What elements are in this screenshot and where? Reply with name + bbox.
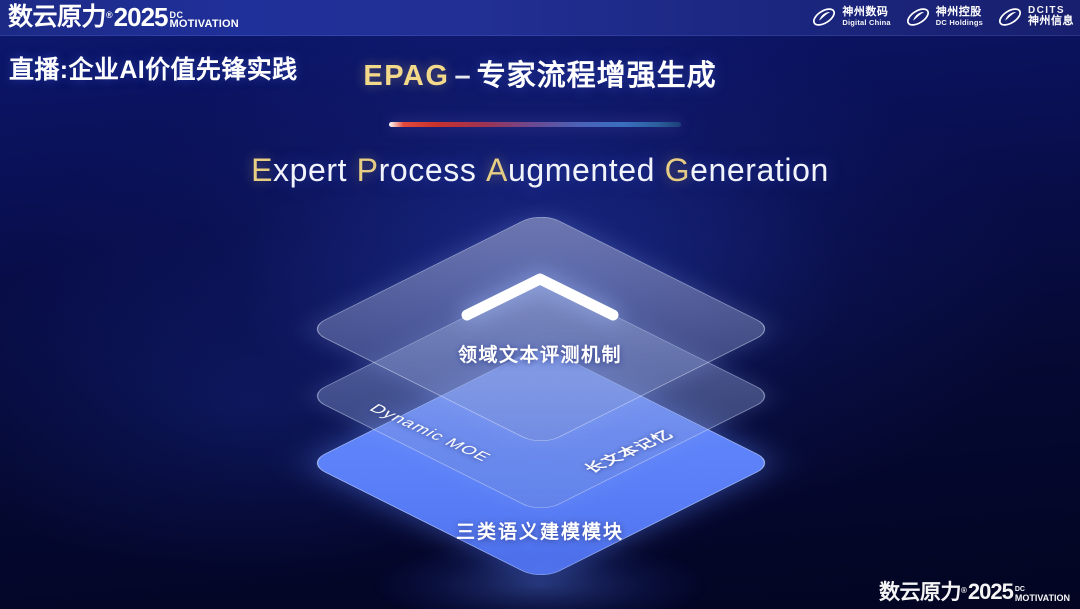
partner-name-en: Digital China [842, 19, 890, 27]
subtitle-cap-g: G [665, 152, 691, 188]
event-logo: 数云原力 ® 2025 DC MOTIVATION [8, 4, 239, 30]
event-logo-dc: DC MOTIVATION [1015, 587, 1070, 603]
event-logo-year: 2025 [114, 4, 168, 30]
presentation-slide: 数云原力 ® 2025 DC MOTIVATION 直播:企业AI价值先锋实践 … [0, 0, 1080, 609]
partner-logo-digital-china: 神州数码 Digital China [811, 4, 890, 30]
title-dash: – [449, 60, 476, 92]
registered-mark-icon: ® [961, 587, 967, 595]
title-chinese: 专家流程增强生成 [477, 60, 717, 92]
partner-text: 神州数码 Digital China [842, 7, 890, 26]
event-logo-cn: 数云原力 [8, 5, 106, 30]
partner-logo-dc-holdings: 神州控股 DC Holdings [905, 4, 983, 30]
partner-name-en: DC Holdings [936, 19, 983, 27]
registered-mark-icon: ® [106, 11, 113, 20]
subtitle-rest-expert: xpert [273, 152, 347, 188]
broadcast-title: 直播:企业AI价值先锋实践 [9, 50, 298, 86]
event-logo-dc-line2: MOTIVATION [170, 19, 239, 29]
partner-logo-group: 神州数码 Digital China 神州控股 DC Holdings DCIT… [811, 4, 1074, 30]
event-logo-dc-line2: MOTIVATION [1015, 594, 1070, 602]
event-logo-cn: 数云原力 [879, 582, 961, 603]
stack-layer-bottom-label: 三类语义建模模块 [270, 517, 810, 544]
spiral-logo-icon [905, 4, 931, 30]
partner-logo-dcits: DCITS 神州信息 [997, 4, 1074, 30]
subtitle-rest-augmented: ugmented [508, 152, 655, 188]
page-subtitle: Expert Process Augmented Generation [0, 152, 1080, 189]
event-logo-watermark: 数云原力 ® 2025 DC MOTIVATION [879, 581, 1070, 603]
chevron-up-icon [457, 269, 623, 325]
partner-text: DCITS 神州信息 [1028, 6, 1074, 28]
event-logo-year: 2025 [968, 581, 1013, 603]
spiral-logo-icon [997, 4, 1023, 30]
subtitle-cap-a: A [486, 152, 508, 188]
layer-stack-diagram: 领域文本评测机制 Dynamic MOE 长文本记忆 三类语义建模模块 [270, 225, 810, 555]
title-divider [389, 122, 681, 127]
subtitle-rest-process: rocess [379, 152, 477, 188]
stack-layer-top-label: 领域文本评测机制 [270, 340, 810, 367]
subtitle-cap-p: P [357, 152, 379, 188]
partner-name-en: DCITS [1028, 6, 1074, 17]
subtitle-cap-e: E [251, 152, 273, 188]
title-acronym: EPAG [363, 60, 449, 92]
event-logo-dc: DC MOTIVATION [170, 11, 239, 30]
spiral-logo-icon [811, 4, 837, 30]
partner-name-cn: 神州信息 [1028, 16, 1074, 28]
partner-text: 神州控股 DC Holdings [936, 7, 983, 26]
subtitle-rest-generation: eneration [690, 152, 829, 188]
